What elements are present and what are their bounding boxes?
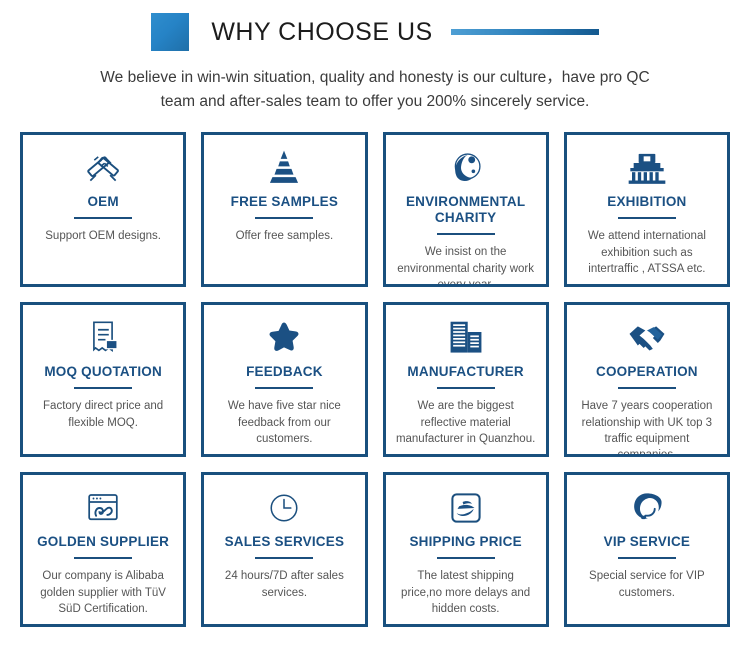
card-title: MOQ QUOTATION [44, 364, 162, 380]
card-divider [255, 387, 313, 389]
card-description: 24 hours/7D after sales services. [214, 568, 354, 601]
handshake-icon [627, 318, 667, 358]
card-title: GOLDEN SUPPLIER [37, 534, 169, 550]
factory-buildings-icon [447, 318, 485, 358]
feature-card-vip-service[interactable]: VIP SERVICE Special service for VIP cust… [564, 472, 730, 627]
card-title: EXHIBITION [607, 194, 686, 210]
card-description: We have five star nice feedback from our… [214, 398, 354, 447]
exhibition-building-icon [627, 148, 667, 188]
card-divider [74, 387, 132, 389]
star-icon [266, 318, 302, 358]
card-divider [618, 387, 676, 389]
card-description: The latest shipping price,no more delays… [396, 568, 536, 617]
card-title: SALES SERVICES [225, 534, 345, 550]
card-description: Factory direct price and flexible MOQ. [33, 398, 173, 431]
card-divider [437, 557, 495, 559]
card-description: We are the biggest reflective material m… [396, 398, 536, 447]
feature-card-feedback[interactable]: FEEDBACK We have five star nice feedback… [201, 302, 367, 457]
card-divider [255, 557, 313, 559]
feature-card-cooperation[interactable]: COOPERATION Have 7 years cooperation rel… [564, 302, 730, 457]
card-title: VIP SERVICE [604, 534, 691, 550]
feature-card-oem[interactable]: OEM Support OEM designs. [20, 132, 186, 287]
card-title: FREE SAMPLES [231, 194, 338, 210]
card-description: We insist on the environmental charity w… [396, 244, 536, 287]
clock-icon [267, 488, 301, 528]
feature-card-moq-quotation[interactable]: MOQ QUOTATION Factory direct price and f… [20, 302, 186, 457]
card-description: Support OEM designs. [45, 228, 161, 244]
card-title: MANUFACTURER [407, 364, 523, 380]
subtitle-line-2: team and after-sales team to offer you 2… [25, 90, 725, 114]
card-divider [74, 557, 132, 559]
page-title: WHY CHOOSE US [211, 18, 432, 47]
card-divider [255, 217, 313, 219]
environment-globe-icon [448, 148, 484, 188]
feature-card-exhibition[interactable]: EXHIBITION We attend international exhib… [564, 132, 730, 287]
header-accent-square [151, 13, 189, 51]
section-header: WHY CHOOSE US [0, 0, 750, 52]
card-description: We attend international exhibition such … [577, 228, 717, 277]
card-title: COOPERATION [596, 364, 698, 380]
header-accent-rule [451, 29, 599, 35]
card-description: Offer free samples. [236, 228, 334, 244]
ruler-pencil-icon [84, 148, 122, 188]
card-title: SHIPPING PRICE [409, 534, 521, 550]
feature-card-manufacturer[interactable]: MANUFACTURER We are the biggest reflecti… [383, 302, 549, 457]
invoice-receipt-icon [85, 318, 121, 358]
why-choose-us-page: WHY CHOOSE US We believe in win-win situ… [0, 0, 750, 670]
feature-card-free-samples[interactable]: FREE SAMPLES Offer free samples. [201, 132, 367, 287]
traffic-cone-icon [267, 148, 301, 188]
card-divider [618, 557, 676, 559]
feature-card-sales-services[interactable]: SALES SERVICES 24 hours/7D after sales s… [201, 472, 367, 627]
card-divider [74, 217, 132, 219]
alibaba-browser-icon [84, 488, 122, 528]
shipping-hand-icon [449, 488, 483, 528]
subtitle-line-1: We believe in win-win situation, quality… [25, 66, 725, 90]
card-description: Special service for VIP customers. [577, 568, 717, 601]
card-description: Our company is Alibaba golden supplier w… [33, 568, 173, 617]
feature-card-environmental-charity[interactable]: ENVIRONMENTAL CHARITY We insist on the e… [383, 132, 549, 287]
card-title: ENVIRONMENTAL CHARITY [396, 194, 536, 226]
card-divider [437, 387, 495, 389]
card-divider [618, 217, 676, 219]
section-subtitle: We believe in win-win situation, quality… [25, 66, 725, 114]
headset-support-icon [629, 488, 665, 528]
feature-card-golden-supplier[interactable]: GOLDEN SUPPLIER Our company is Alibaba g… [20, 472, 186, 627]
card-title: FEEDBACK [246, 364, 323, 380]
card-divider [437, 233, 495, 235]
card-description: Have 7 years cooperation relationship wi… [577, 398, 717, 457]
feature-card-shipping-price[interactable]: SHIPPING PRICE The latest shipping price… [383, 472, 549, 627]
feature-card-grid: OEM Support OEM designs. FREE SAMPLES Of… [20, 132, 730, 627]
card-title: OEM [87, 194, 118, 210]
